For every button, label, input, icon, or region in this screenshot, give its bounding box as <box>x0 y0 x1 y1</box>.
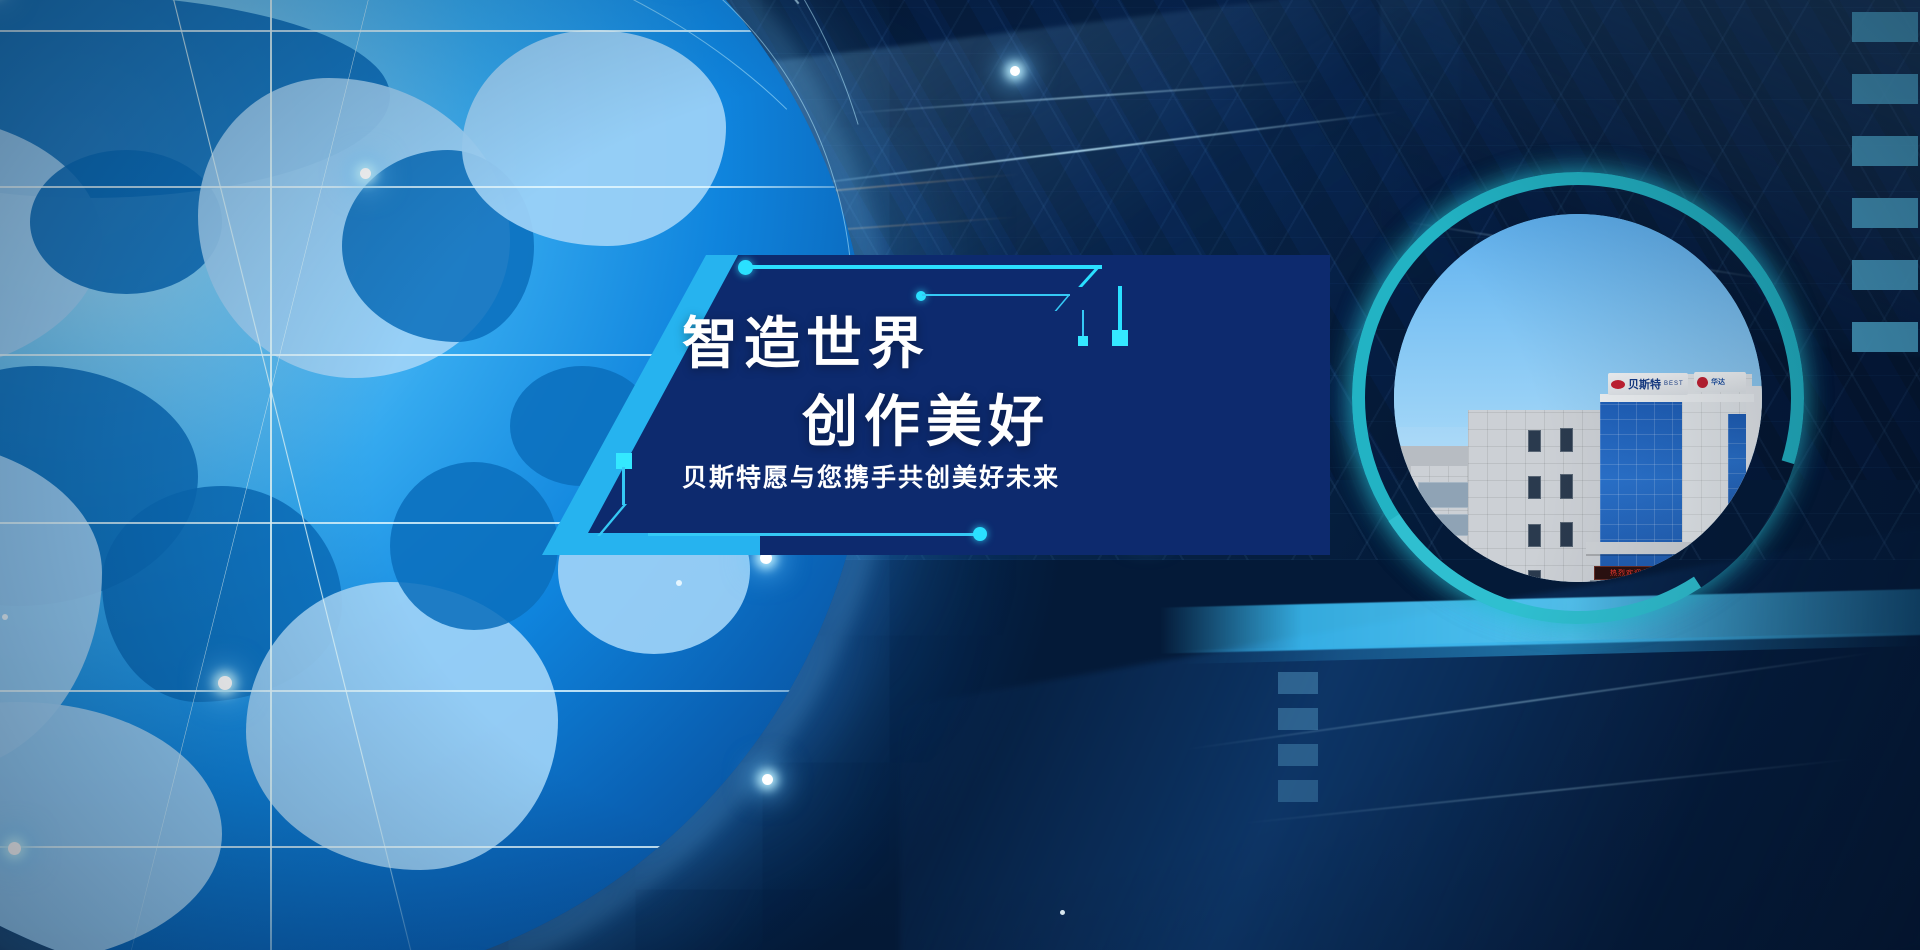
hero-banner: 贝斯特 BEST 华达 热烈欢迎各位领导莅临 <box>0 0 1920 950</box>
background-vignette <box>0 0 1920 950</box>
